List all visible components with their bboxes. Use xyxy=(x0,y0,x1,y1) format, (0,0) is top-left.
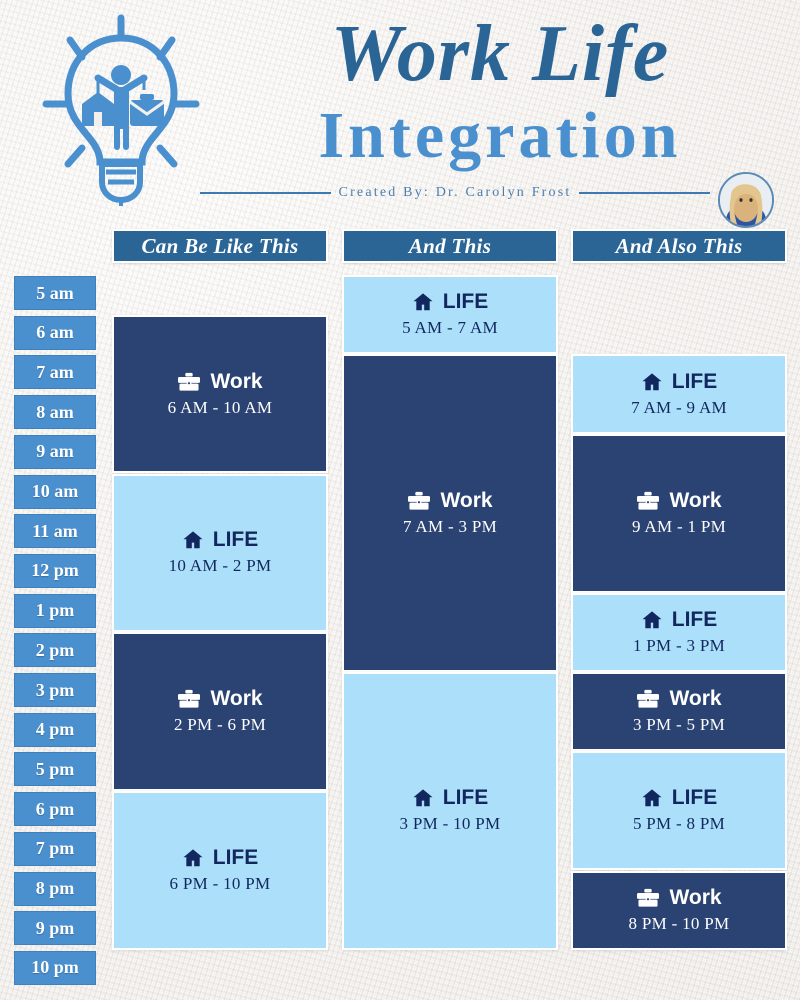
block-label: Work xyxy=(210,370,262,394)
block-time-range: 6 PM - 10 PM xyxy=(170,873,271,895)
briefcase-icon xyxy=(636,887,660,909)
time-label-10-am: 10 am xyxy=(14,475,96,509)
schedule-block-life: LIFE6 PM - 10 PM xyxy=(112,791,328,950)
block-label: LIFE xyxy=(443,290,489,314)
schedule-block-work: Work6 AM - 10 AM xyxy=(112,315,328,474)
block-time-range: 3 PM - 10 PM xyxy=(400,813,501,835)
block-label: LIFE xyxy=(213,846,259,870)
schedule-block-work: Work8 PM - 10 PM xyxy=(571,871,787,950)
block-label: Work xyxy=(669,687,721,711)
header: Work Life Integration Created By: Dr. Ca… xyxy=(0,0,800,228)
block-time-range: 6 AM - 10 AM xyxy=(168,397,273,419)
time-label-9-pm: 9 pm xyxy=(14,911,96,945)
schedule-block-life: LIFE1 PM - 3 PM xyxy=(571,593,787,672)
block-label: Work xyxy=(210,687,262,711)
schedule-block-life: LIFE5 PM - 8 PM xyxy=(571,751,787,870)
briefcase-icon xyxy=(407,490,431,512)
block-time-range: 5 AM - 7 AM xyxy=(402,317,498,339)
schedule-block-work: Work2 PM - 6 PM xyxy=(112,632,328,791)
house-icon xyxy=(182,529,204,551)
house-icon xyxy=(182,847,204,869)
schedule-block-work: Work7 AM - 3 PM xyxy=(342,354,558,672)
block-time-range: 2 PM - 6 PM xyxy=(174,714,266,736)
page-title: Work Life Integration xyxy=(200,8,800,172)
time-label-2-pm: 2 pm xyxy=(14,633,96,667)
time-label-8-am: 8 am xyxy=(14,395,96,429)
time-label-10-pm: 10 pm xyxy=(14,951,96,985)
column-header-2: And This xyxy=(342,229,558,263)
house-icon xyxy=(412,291,434,313)
house-icon xyxy=(412,787,434,809)
title-line-2: Integration xyxy=(200,100,800,172)
block-time-range: 10 AM - 2 PM xyxy=(169,555,272,577)
schedule-block-life: LIFE7 AM - 9 AM xyxy=(571,354,787,433)
block-label: LIFE xyxy=(672,608,718,632)
avatar xyxy=(718,172,774,228)
time-label-1-pm: 1 pm xyxy=(14,594,96,628)
credit-text: Created By: Dr. Carolyn Frost xyxy=(339,185,572,201)
time-label-9-am: 9 am xyxy=(14,435,96,469)
time-label-6-pm: 6 pm xyxy=(14,792,96,826)
schedule-block-work: Work9 AM - 1 PM xyxy=(571,434,787,593)
briefcase-icon xyxy=(177,371,201,393)
column-header-3: And Also This xyxy=(571,229,787,263)
column-header-1: Can Be Like This xyxy=(112,229,328,263)
schedule-block-work: Work3 PM - 5 PM xyxy=(571,672,787,751)
house-icon xyxy=(641,609,663,631)
house-icon xyxy=(641,371,663,393)
title-line-1: Work Life xyxy=(200,8,800,100)
block-label: LIFE xyxy=(672,370,718,394)
schedule-block-life: LIFE3 PM - 10 PM xyxy=(342,672,558,950)
time-label-8-pm: 8 pm xyxy=(14,872,96,906)
block-time-range: 7 AM - 3 PM xyxy=(403,516,497,538)
house-icon xyxy=(641,787,663,809)
block-label: LIFE xyxy=(213,528,259,552)
credit-rule-right xyxy=(579,192,710,194)
block-time-range: 8 PM - 10 PM xyxy=(629,913,730,935)
schedule-block-life: LIFE5 AM - 7 AM xyxy=(342,275,558,354)
time-label-11-am: 11 am xyxy=(14,514,96,548)
schedule-block-life: LIFE10 AM - 2 PM xyxy=(112,474,328,633)
block-label: Work xyxy=(440,489,492,513)
time-label-5-pm: 5 pm xyxy=(14,752,96,786)
time-label-12-pm: 12 pm xyxy=(14,554,96,588)
block-time-range: 1 PM - 3 PM xyxy=(633,635,725,657)
briefcase-icon xyxy=(636,490,660,512)
briefcase-icon xyxy=(636,688,660,710)
time-label-5-am: 5 am xyxy=(14,276,96,310)
block-label: LIFE xyxy=(672,786,718,810)
block-time-range: 7 AM - 9 AM xyxy=(631,397,727,419)
block-label: Work xyxy=(669,489,721,513)
lightbulb-work-life-balance-icon xyxy=(36,12,206,208)
time-label-6-am: 6 am xyxy=(14,316,96,350)
time-label-3-pm: 3 pm xyxy=(14,673,96,707)
credit-rule-left xyxy=(200,192,331,194)
block-time-range: 3 PM - 5 PM xyxy=(633,714,725,736)
infographic-page: Work Life Integration Created By: Dr. Ca… xyxy=(0,0,800,1000)
briefcase-icon xyxy=(177,688,201,710)
time-label-7-am: 7 am xyxy=(14,355,96,389)
block-label: LIFE xyxy=(443,786,489,810)
block-time-range: 9 AM - 1 PM xyxy=(632,516,726,538)
credit-line: Created By: Dr. Carolyn Frost xyxy=(200,185,710,201)
time-label-4-pm: 4 pm xyxy=(14,713,96,747)
time-label-7-pm: 7 pm xyxy=(14,832,96,866)
block-time-range: 5 PM - 8 PM xyxy=(633,813,725,835)
block-label: Work xyxy=(669,886,721,910)
